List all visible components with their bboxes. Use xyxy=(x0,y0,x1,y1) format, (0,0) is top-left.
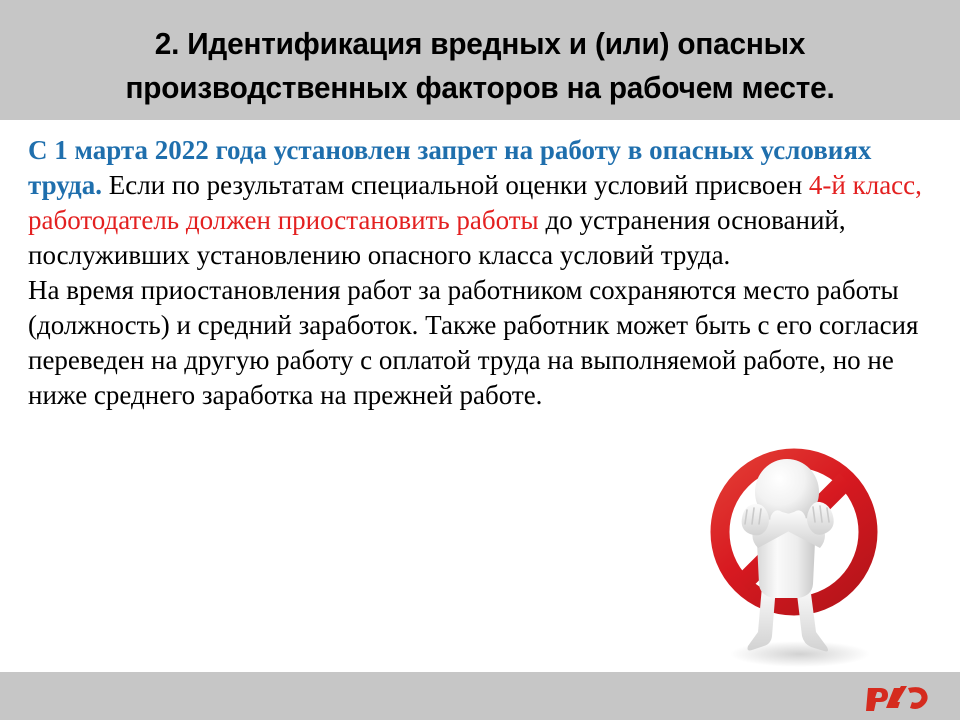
paragraph-one: С 1 марта 2022 года установлен запрет на… xyxy=(28,133,933,273)
slide-canvas: 2. Идентификация вредных и (или) опасных… xyxy=(0,0,960,720)
paragraph-two: На время приостановления работ за работн… xyxy=(28,273,933,413)
figure-3d xyxy=(742,459,834,652)
body-text-block: С 1 марта 2022 года установлен запрет на… xyxy=(28,133,933,413)
page-title: 2. Идентификация вредных и (или) опасных… xyxy=(19,22,941,110)
footer-band xyxy=(0,672,960,720)
paragraph-one-segment-one: Если по результатам специальной оценки у… xyxy=(102,170,809,200)
rzd-logo xyxy=(864,680,934,714)
prohibition-sign-graphic xyxy=(684,446,934,674)
